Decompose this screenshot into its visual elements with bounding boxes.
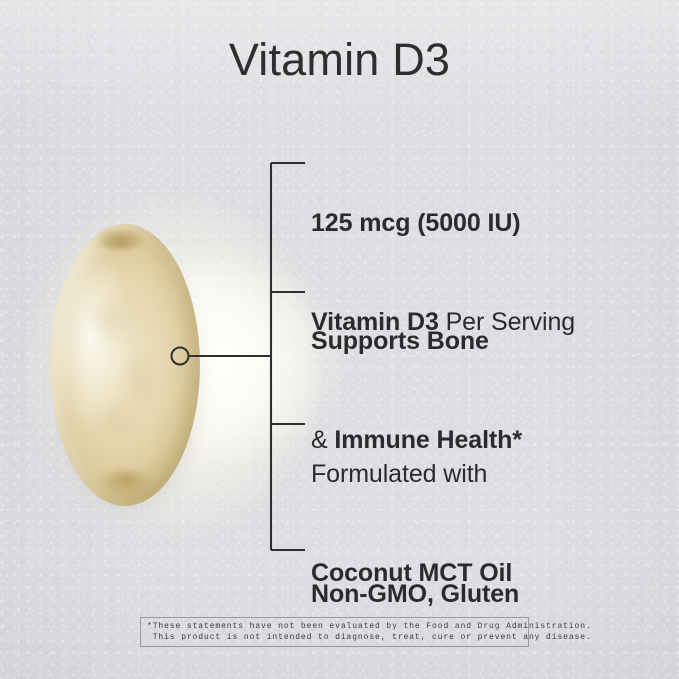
capsule-seam-top (96, 228, 144, 250)
callout-free-from-text1: Non-GMO, Gluten (311, 580, 519, 608)
softgel-capsule-icon (50, 224, 200, 506)
capsule-oil-mottling (62, 250, 188, 482)
callout-dosage-amount: 125 mcg (5000 IU) (311, 209, 521, 237)
product-infographic: Vitamin D3 125 mcg (5000 IU) (0, 0, 679, 679)
callout-formulation-line1: Formulated with (311, 425, 512, 491)
callout-formulation-prefix: Formulated with (311, 460, 487, 488)
fda-disclaimer-line-1: *These statements have not been evaluate… (147, 621, 522, 632)
capsule-glow-halo (28, 196, 318, 536)
page-title: Vitamin D3 (0, 36, 679, 83)
callout-free-from-line1: Non-GMO, Gluten (311, 545, 519, 611)
callout-benefits-text1: Supports Bone (311, 327, 489, 355)
capsule-marker-dot (172, 348, 189, 365)
callout-free-from: Non-GMO, Gluten & Soy-Free (311, 512, 519, 679)
callout-dosage-line1: 125 mcg (5000 IU) (311, 174, 575, 240)
fda-disclaimer-line-2: This product is not intended to diagnose… (147, 632, 522, 643)
fda-disclaimer-box: *These statements have not been evaluate… (140, 617, 529, 647)
callout-free-from-line2: & Soy-Free (311, 644, 519, 679)
capsule-drop-shadow (52, 246, 204, 508)
callout-benefits-line1: Supports Bone (311, 292, 522, 358)
capsule-seam-bottom (100, 470, 152, 496)
